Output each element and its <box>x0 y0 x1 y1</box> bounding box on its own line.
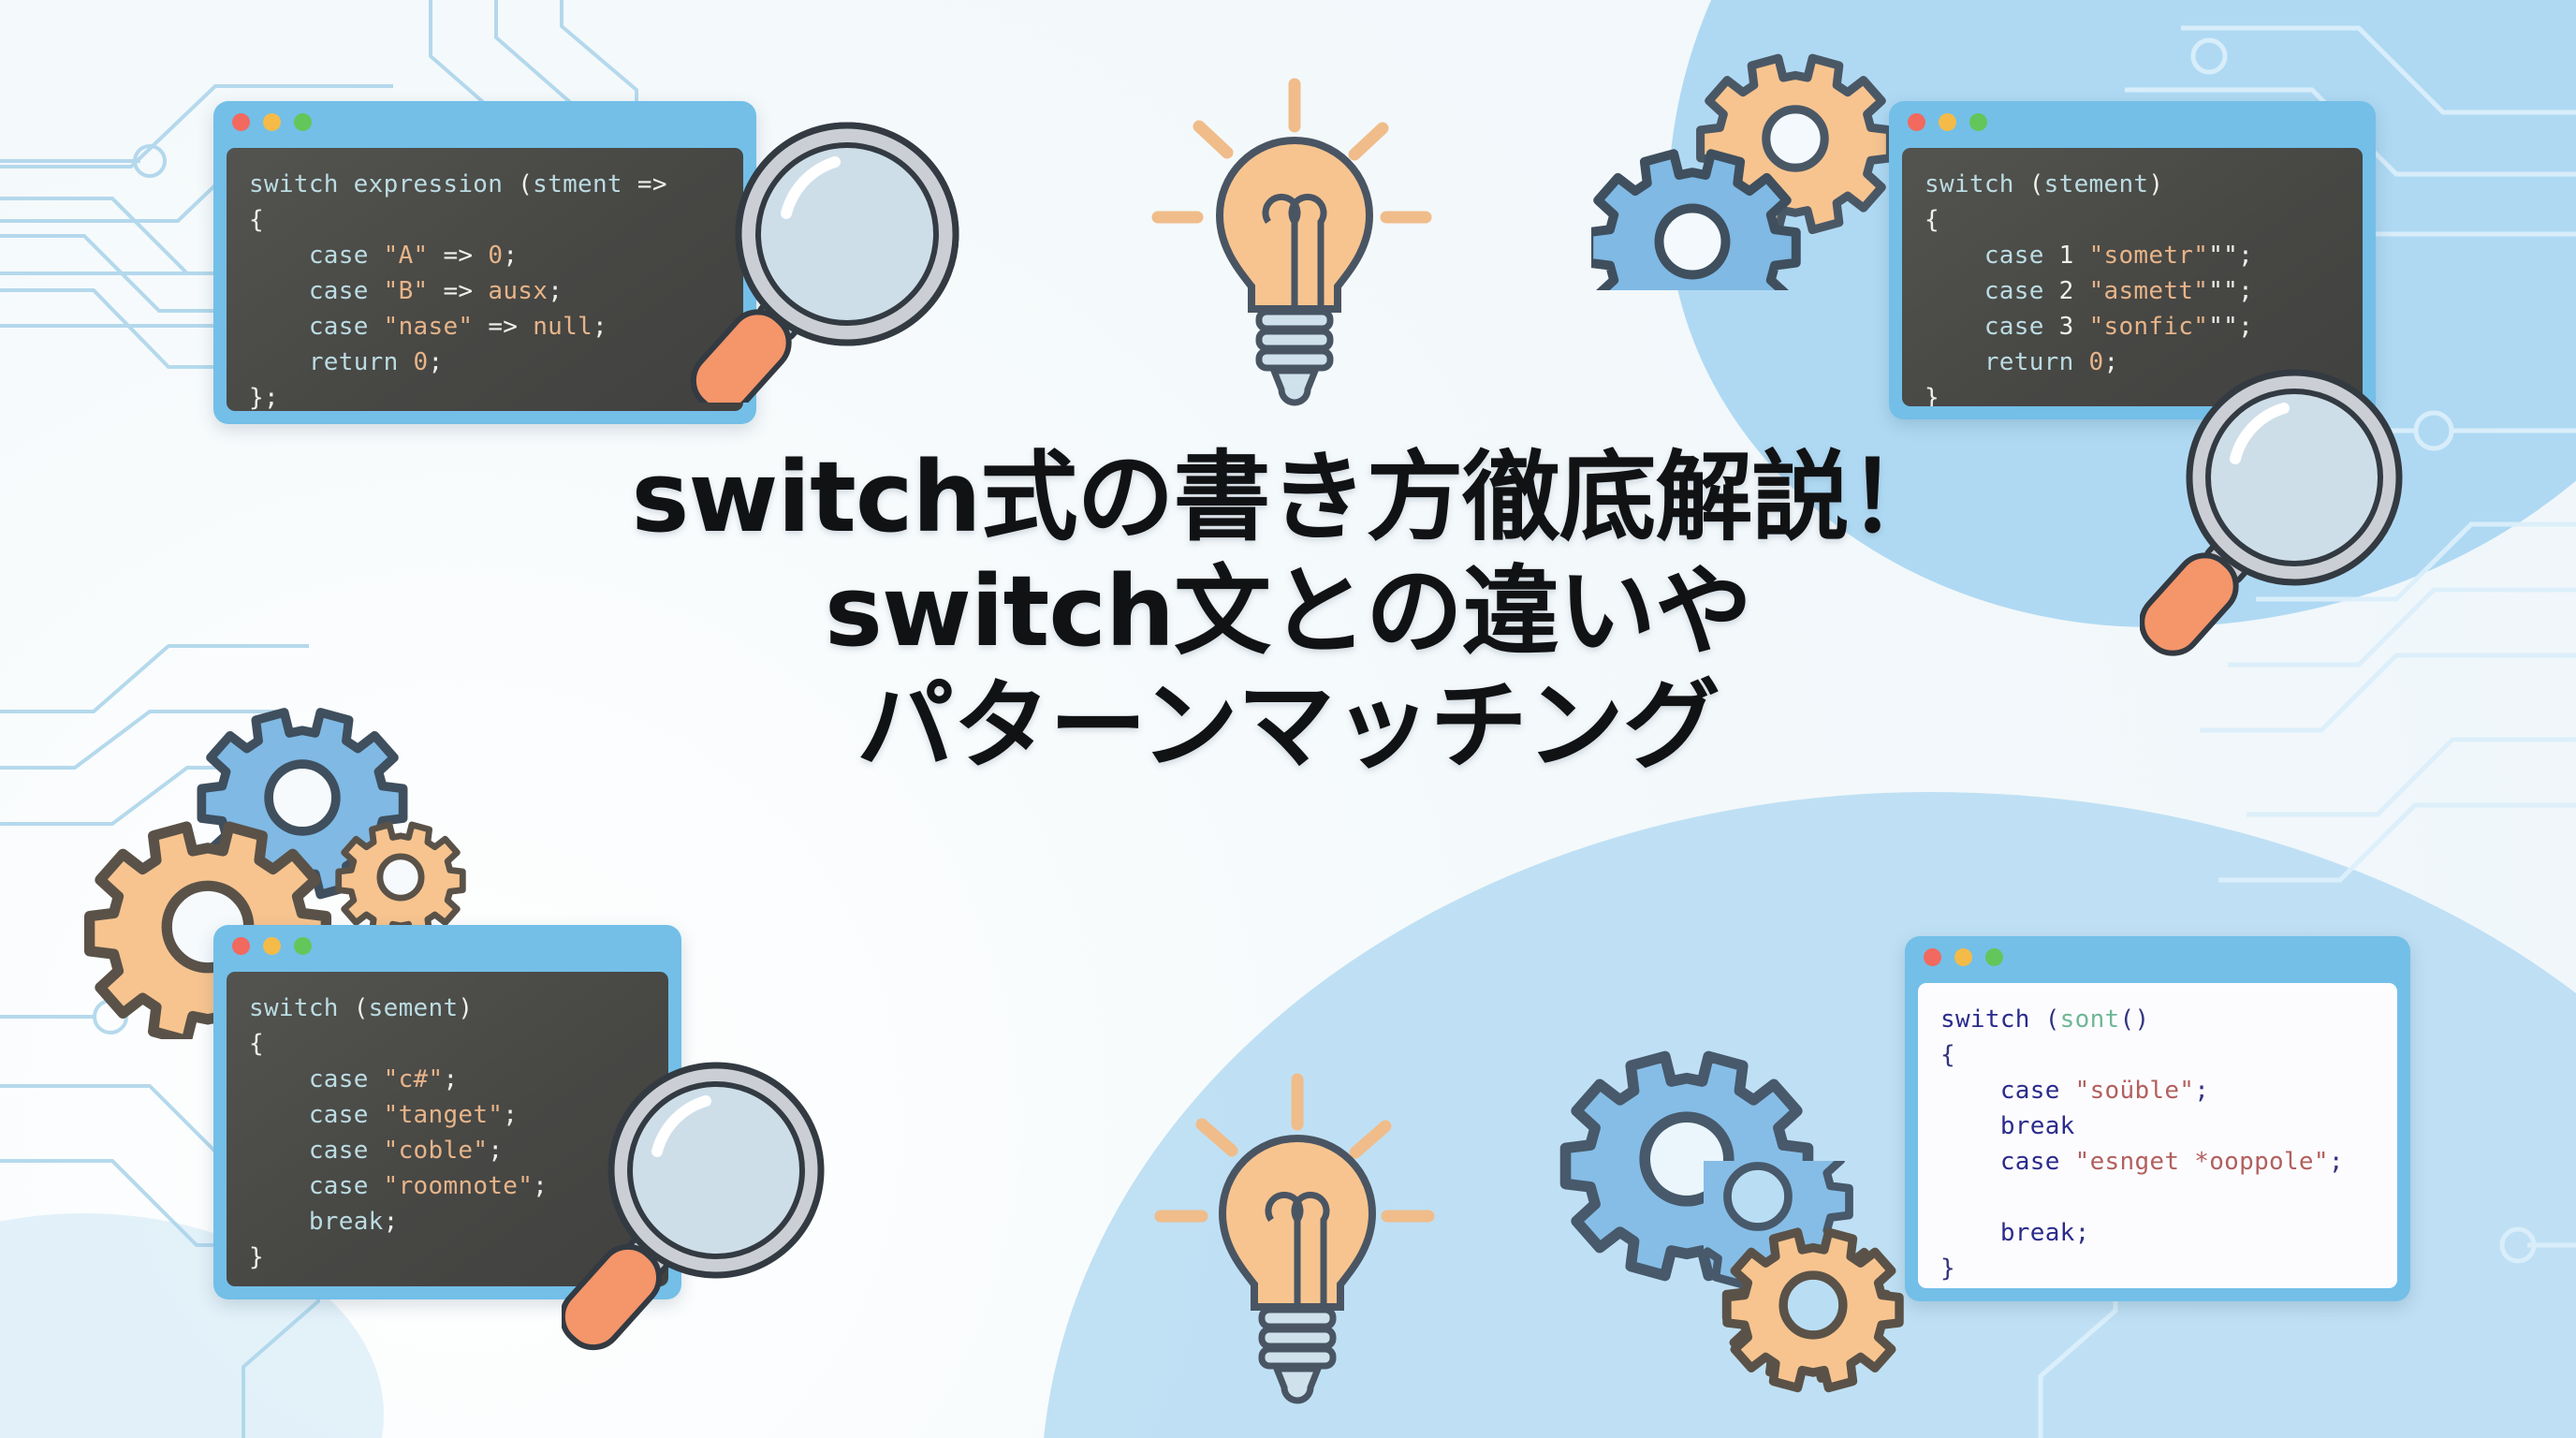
gears-top-right <box>1591 28 1900 290</box>
minimize-dot[interactable] <box>1939 113 1956 131</box>
lightbulb-icon-top <box>1128 42 1502 426</box>
gear-icon <box>339 825 463 937</box>
window-titlebar <box>213 925 681 966</box>
code-window-top-left[interactable]: switch expression (stment => { case "A" … <box>213 101 756 424</box>
code-block-bottom-right: switch (sont() { case "soüble"; break ca… <box>1918 983 2397 1288</box>
magnifier-icon-top-left <box>683 94 1011 403</box>
window-titlebar <box>1889 101 2376 142</box>
headline-line-2: switch文との違いや <box>0 554 2576 668</box>
code-window-bottom-right[interactable]: switch (sont() { case "soüble"; break ca… <box>1905 936 2410 1301</box>
headline-line-1: switch式の書き方徹底解説！ <box>0 440 2576 554</box>
code-screen: switch (sont() { case "soüble"; break ca… <box>1918 983 2397 1288</box>
poster-canvas: switch expression (stment => { case "A" … <box>0 0 2576 1438</box>
gear-icon <box>1591 154 1796 290</box>
lightbulb-icon-bottom <box>1131 1037 1505 1431</box>
maximize-dot[interactable] <box>1985 948 2003 966</box>
gear-icon <box>1727 1232 1899 1387</box>
minimize-dot[interactable] <box>1954 948 1972 966</box>
close-dot[interactable] <box>1924 948 1941 966</box>
maximize-dot[interactable] <box>294 937 312 955</box>
maximize-dot[interactable] <box>294 113 312 131</box>
magnifier-icon-bottom-left <box>562 1037 917 1374</box>
poster-headline: switch式の書き方徹底解説！ switch文との違いや パターンマッチング <box>0 440 2576 783</box>
window-titlebar <box>1905 936 2410 977</box>
close-dot[interactable] <box>1908 113 1925 131</box>
maximize-dot[interactable] <box>1969 113 1987 131</box>
minimize-dot[interactable] <box>263 937 281 955</box>
code-block-top-left: switch expression (stment => { case "A" … <box>227 148 743 411</box>
headline-line-3: パターンマッチング <box>0 668 2576 783</box>
code-screen: switch expression (stment => { case "A" … <box>227 148 743 411</box>
close-dot[interactable] <box>232 113 250 131</box>
minimize-dot[interactable] <box>263 113 281 131</box>
close-dot[interactable] <box>232 937 250 955</box>
window-titlebar <box>213 101 756 142</box>
